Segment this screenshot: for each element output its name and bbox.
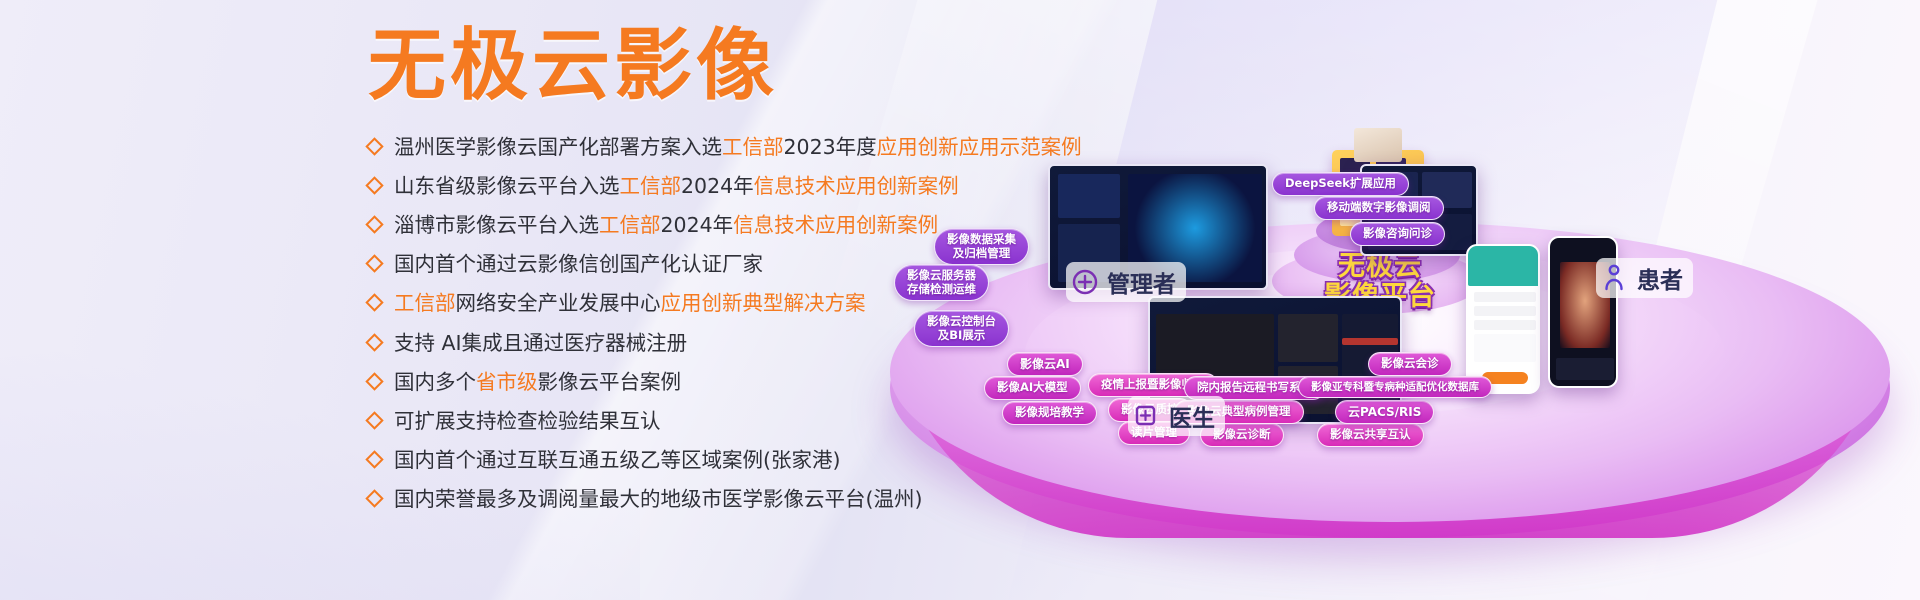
capability-pill-line: 院内报告远程书写系统 <box>1197 380 1312 394</box>
capability-pill-line: 影像规培教学 <box>1015 405 1084 419</box>
plain-text: 淄博市影像云平台入选 <box>394 213 599 237</box>
capability-pill[interactable]: 影像咨询问诊 <box>1350 222 1445 246</box>
capability-pill[interactable]: 影像云服务器存储检测运维 <box>894 264 989 301</box>
plain-text: 国内荣誉最多及调阅量最大的地级市医学影像云平台(温州) <box>394 487 923 511</box>
capability-pill-line: 影像咨询问诊 <box>1363 226 1432 240</box>
plain-text: 2023年度 <box>784 135 877 159</box>
highlighted-text: 工信部 <box>620 174 682 198</box>
capability-pill-line: 移动端数字影像调阅 <box>1327 200 1431 214</box>
capability-pill-line: 及归档管理 <box>953 246 1011 260</box>
capability-pill-line: 影像云控制台 <box>927 314 996 328</box>
capability-pill-line: 影像亚专科暨专病种适配优化数据库 <box>1311 381 1479 393</box>
device-top-box <box>1354 128 1402 162</box>
highlighted-text: 应用创新典型解决方案 <box>661 291 866 315</box>
capability-pill-line: 云PACS/RIS <box>1348 405 1421 419</box>
role-label-doctor: 医生 <box>1169 399 1215 433</box>
capability-pill-line: 影像云服务器 <box>907 268 976 282</box>
capability-pill-line: 影像AI大模型 <box>997 380 1068 394</box>
role-badge-admin[interactable]: 管理者 <box>1066 262 1186 302</box>
capability-pill[interactable]: 云PACS/RIS <box>1335 400 1434 424</box>
list-item-text: 可扩展支持检查检验结果互认 <box>394 408 661 435</box>
capability-pill-line: DeepSeek扩展应用 <box>1285 176 1396 190</box>
capability-pill[interactable]: 影像云AI <box>1007 352 1083 376</box>
plain-text: 网络安全产业发展中心 <box>456 291 661 315</box>
plain-text: 2024年 <box>681 174 754 198</box>
diamond-bullet-icon <box>365 333 383 351</box>
capability-pill[interactable]: 影像云共享互认 <box>1317 423 1424 447</box>
list-item-text: 国内多个省市级影像云平台案例 <box>394 369 681 396</box>
plain-text: 山东省级影像云平台入选 <box>394 174 620 198</box>
list-item-text: 支持 AI集成且通过医疗器械注册 <box>394 330 687 357</box>
stethoscope-icon <box>1134 403 1160 429</box>
diamond-bullet-icon <box>365 255 383 273</box>
plain-text: 2024年 <box>661 213 734 237</box>
highlighted-text: 工信部 <box>394 291 456 315</box>
capability-pill[interactable]: 影像AI大模型 <box>984 376 1081 400</box>
capability-pill[interactable]: 影像规培教学 <box>1002 401 1097 425</box>
highlighted-text: 工信部 <box>722 135 784 159</box>
diamond-bullet-icon <box>365 489 383 507</box>
role-badge-doctor[interactable]: 医生 <box>1128 396 1225 436</box>
plus-circle-icon <box>1072 269 1098 295</box>
capability-pill-line: 影像云共享互认 <box>1330 427 1411 441</box>
diamond-bullet-icon <box>365 137 383 155</box>
capability-pill[interactable]: DeepSeek扩展应用 <box>1272 172 1409 196</box>
capability-pill-line: 影像云会诊 <box>1381 356 1439 370</box>
plain-text: 国内首个通过互联互通五级乙等区域案例(张家港) <box>394 448 841 472</box>
diamond-bullet-icon <box>365 450 383 468</box>
capability-pill-line: 影像数据采集 <box>947 232 1016 246</box>
list-item-text: 国内荣誉最多及调阅量最大的地级市医学影像云平台(温州) <box>394 486 923 513</box>
plain-text: 温州医学影像云国产化部署方案入选 <box>394 135 722 159</box>
diamond-bullet-icon <box>365 176 383 194</box>
list-item-text: 工信部网络安全产业发展中心应用创新典型解决方案 <box>394 290 866 317</box>
role-label-patient: 患者 <box>1637 261 1683 295</box>
capability-pill[interactable]: 影像云会诊 <box>1368 352 1452 376</box>
patient-app-phone <box>1466 244 1540 394</box>
list-item-text: 淄博市影像云平台入选工信部2024年信息技术应用创新案例 <box>394 212 938 239</box>
plain-text: 影像云平台案例 <box>538 370 682 394</box>
capability-pill[interactable]: 影像数据采集及归档管理 <box>934 228 1029 265</box>
diamond-bullet-icon <box>365 215 383 233</box>
plain-text: 可扩展支持检查检验结果互认 <box>394 409 661 433</box>
capability-pill-line: 及BI展示 <box>938 328 986 342</box>
capability-pill[interactable]: 移动端数字影像调阅 <box>1314 196 1444 220</box>
role-badge-patient[interactable]: 患者 <box>1596 258 1693 298</box>
list-item-text: 国内首个通过云影像信创国产化认证厂家 <box>394 251 763 278</box>
diamond-bullet-icon <box>365 294 383 312</box>
plain-text: 国内多个 <box>394 370 476 394</box>
highlighted-text: 省市级 <box>476 370 538 394</box>
capability-pill-line: 影像云AI <box>1020 357 1070 371</box>
plain-text: 支持 AI集成且通过医疗器械注册 <box>394 331 687 355</box>
banner-root: 无极云影像 温州医学影像云国产化部署方案入选工信部2023年度应用创新应用示范案… <box>0 0 1920 600</box>
capability-pill[interactable]: 影像云控制台及BI展示 <box>914 310 1009 347</box>
capability-pill[interactable]: 影像亚专科暨专病种适配优化数据库 <box>1298 376 1492 398</box>
role-label-admin: 管理者 <box>1107 265 1176 299</box>
list-item-text: 国内首个通过互联互通五级乙等区域案例(张家港) <box>394 447 841 474</box>
platform-ecosystem-illustration: 无极云 影像平台 <box>880 0 1920 600</box>
diamond-bullet-icon <box>365 372 383 390</box>
list-item-text: 山东省级影像云平台入选工信部2024年信息技术应用创新案例 <box>394 173 959 200</box>
plain-text: 国内首个通过云影像信创国产化认证厂家 <box>394 252 763 276</box>
person-icon <box>1602 264 1628 292</box>
highlighted-text: 工信部 <box>599 213 661 237</box>
diamond-bullet-icon <box>365 411 383 429</box>
capability-pill-line: 存储检测运维 <box>907 282 976 296</box>
